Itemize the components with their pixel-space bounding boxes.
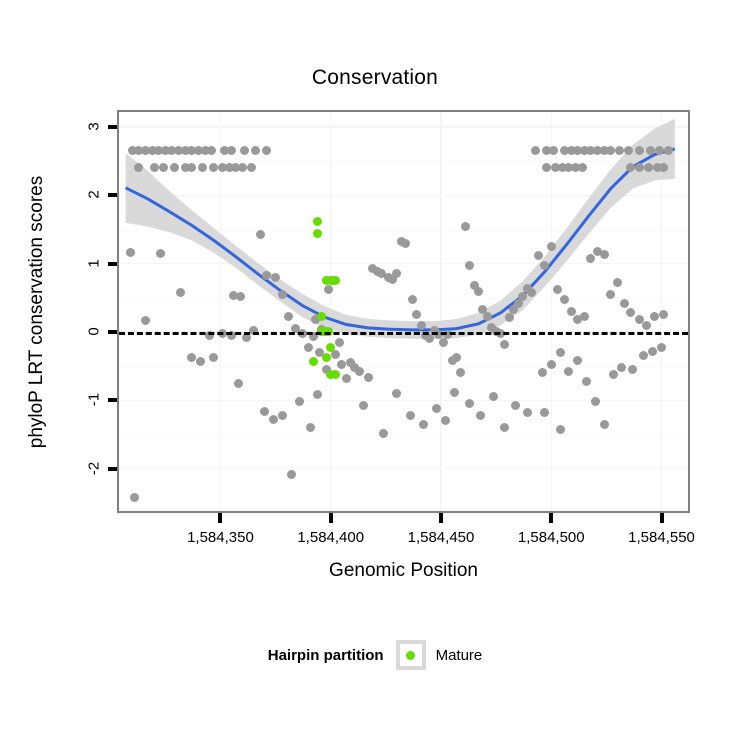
data-point-other bbox=[553, 285, 562, 294]
plot-panel bbox=[117, 110, 690, 513]
data-point-other bbox=[476, 411, 485, 420]
y-tick-label: 3 bbox=[86, 112, 103, 142]
gridline-y bbox=[119, 468, 688, 470]
data-point-other bbox=[648, 347, 657, 356]
data-point-mature bbox=[326, 343, 335, 352]
data-point-other bbox=[401, 239, 410, 248]
data-point-other bbox=[271, 273, 280, 282]
data-point-other bbox=[600, 420, 609, 429]
legend-title: Hairpin partition bbox=[268, 647, 384, 664]
data-point-other bbox=[439, 338, 448, 347]
data-point-other bbox=[187, 353, 196, 362]
data-point-other bbox=[198, 163, 207, 172]
data-point-other bbox=[624, 146, 633, 155]
data-point-other bbox=[518, 292, 527, 301]
data-point-other bbox=[359, 401, 368, 410]
data-point-other bbox=[540, 408, 549, 417]
data-point-other bbox=[664, 146, 673, 155]
data-point-other bbox=[187, 163, 196, 172]
data-point-other bbox=[284, 312, 293, 321]
legend-dot-icon bbox=[406, 651, 415, 660]
data-point-mature bbox=[313, 229, 322, 238]
data-point-other bbox=[406, 411, 415, 420]
data-point-other bbox=[408, 295, 417, 304]
data-point-other bbox=[547, 360, 556, 369]
y-tick-mark bbox=[108, 125, 117, 129]
data-point-other bbox=[342, 374, 351, 383]
data-point-other bbox=[547, 242, 556, 251]
data-point-other bbox=[141, 316, 150, 325]
data-point-other bbox=[564, 367, 573, 376]
data-point-other bbox=[236, 292, 245, 301]
data-point-other bbox=[238, 163, 247, 172]
y-tick-mark bbox=[108, 330, 117, 334]
data-point-other bbox=[337, 360, 346, 369]
x-axis-title: Genomic Position bbox=[117, 560, 690, 582]
data-point-other bbox=[452, 353, 461, 362]
data-point-other bbox=[269, 415, 278, 424]
data-point-other bbox=[644, 163, 653, 172]
data-point-mature bbox=[331, 370, 340, 379]
data-point-other bbox=[573, 356, 582, 365]
data-point-other bbox=[615, 146, 624, 155]
data-point-other bbox=[642, 321, 651, 330]
data-point-other bbox=[156, 249, 165, 258]
data-point-other bbox=[523, 408, 532, 417]
page-title: Conservation bbox=[0, 66, 750, 90]
conservation-chart: Conservation phyloP LRT conservation sco… bbox=[0, 0, 750, 750]
data-point-other bbox=[260, 407, 269, 416]
data-point-other bbox=[540, 261, 549, 270]
data-point-other bbox=[134, 163, 143, 172]
data-point-other bbox=[650, 312, 659, 321]
data-point-other bbox=[635, 146, 644, 155]
data-point-other bbox=[306, 423, 315, 432]
data-point-other bbox=[626, 308, 635, 317]
data-point-other bbox=[556, 348, 565, 357]
data-point-other bbox=[456, 368, 465, 377]
data-point-other bbox=[591, 397, 600, 406]
gridline-y bbox=[119, 126, 688, 128]
y-tick-mark bbox=[108, 398, 117, 402]
data-point-other bbox=[412, 310, 421, 319]
x-tick-mark bbox=[549, 513, 553, 523]
data-point-other bbox=[609, 370, 618, 379]
y-tick-label: 0 bbox=[86, 316, 103, 346]
data-point-other bbox=[626, 163, 635, 172]
x-tick-mark bbox=[218, 513, 222, 523]
data-point-other bbox=[578, 163, 587, 172]
data-point-other bbox=[304, 343, 313, 352]
data-point-other bbox=[392, 389, 401, 398]
y-tick-label: 1 bbox=[86, 248, 103, 278]
data-point-mature bbox=[309, 357, 318, 366]
data-point-other bbox=[313, 390, 322, 399]
data-point-other bbox=[527, 288, 536, 297]
gridline-x bbox=[551, 112, 553, 511]
data-point-other bbox=[262, 146, 271, 155]
data-point-mature bbox=[317, 312, 326, 321]
data-point-other bbox=[500, 423, 509, 432]
data-point-other bbox=[531, 146, 540, 155]
x-tick-label: 1,584,450 bbox=[391, 529, 491, 546]
data-point-other bbox=[505, 313, 514, 322]
data-point-other bbox=[639, 351, 648, 360]
data-point-other bbox=[465, 261, 474, 270]
data-point-other bbox=[628, 365, 637, 374]
data-point-other bbox=[511, 401, 520, 410]
x-tick-mark bbox=[329, 513, 333, 523]
data-point-other bbox=[580, 312, 589, 321]
data-point-other bbox=[207, 146, 216, 155]
plot-area bbox=[119, 112, 688, 511]
legend-label-mature: Mature bbox=[436, 647, 483, 664]
data-point-other bbox=[500, 340, 509, 349]
data-point-other bbox=[417, 321, 426, 330]
data-point-other bbox=[483, 312, 492, 321]
data-point-mature bbox=[331, 276, 340, 285]
data-point-other bbox=[234, 379, 243, 388]
gridline-y bbox=[119, 195, 688, 197]
data-point-other bbox=[635, 163, 644, 172]
x-tick-label: 1,584,400 bbox=[281, 529, 381, 546]
trend-overlay bbox=[119, 112, 688, 511]
data-point-other bbox=[617, 363, 626, 372]
y-axis-title: phyloP LRT conservation scores bbox=[26, 110, 48, 514]
gridline-y-minor bbox=[119, 230, 688, 231]
gridline-y bbox=[119, 263, 688, 265]
data-point-other bbox=[287, 470, 296, 479]
data-point-other bbox=[549, 146, 558, 155]
gridline-y-minor bbox=[119, 434, 688, 435]
data-point-other bbox=[176, 288, 185, 297]
gridline-x bbox=[330, 112, 332, 511]
data-point-other bbox=[461, 222, 470, 231]
data-point-other bbox=[560, 295, 569, 304]
data-point-other bbox=[419, 420, 428, 429]
data-point-mature bbox=[313, 217, 322, 226]
data-point-other bbox=[150, 163, 159, 172]
y-tick-label: -2 bbox=[86, 453, 103, 483]
data-point-other bbox=[209, 353, 218, 362]
data-point-other bbox=[247, 163, 256, 172]
data-point-other bbox=[538, 368, 547, 377]
data-point-other bbox=[227, 146, 236, 155]
data-point-other bbox=[659, 163, 668, 172]
data-point-other bbox=[534, 251, 543, 260]
legend-key-mature[interactable] bbox=[396, 640, 426, 670]
data-point-other bbox=[556, 425, 565, 434]
data-point-other bbox=[657, 343, 666, 352]
y-tick-label: 2 bbox=[86, 180, 103, 210]
x-tick-label: 1,584,500 bbox=[501, 529, 601, 546]
data-point-other bbox=[620, 299, 629, 308]
data-point-other bbox=[425, 334, 434, 343]
data-point-other bbox=[240, 146, 249, 155]
data-point-other bbox=[441, 416, 450, 425]
data-point-other bbox=[324, 285, 333, 294]
data-point-other bbox=[646, 146, 655, 155]
data-point-other bbox=[196, 357, 205, 366]
y-tick-mark bbox=[108, 262, 117, 266]
data-point-other bbox=[379, 429, 388, 438]
data-point-other bbox=[209, 163, 218, 172]
data-point-other bbox=[335, 338, 344, 347]
data-point-other bbox=[613, 278, 622, 287]
x-tick-mark bbox=[660, 513, 664, 523]
gridline-x bbox=[220, 112, 222, 511]
data-point-other bbox=[126, 248, 135, 257]
gridline-y-minor bbox=[119, 366, 688, 367]
gridline-y bbox=[119, 400, 688, 402]
x-tick-label: 1,584,550 bbox=[612, 529, 712, 546]
data-point-other bbox=[392, 269, 401, 278]
data-point-other bbox=[600, 250, 609, 259]
legend: Hairpin partition Mature bbox=[0, 640, 750, 670]
data-point-other bbox=[256, 230, 265, 239]
x-tick-mark bbox=[439, 513, 443, 523]
data-point-other bbox=[582, 377, 591, 386]
data-point-other bbox=[659, 310, 668, 319]
data-point-other bbox=[295, 397, 304, 406]
data-point-other bbox=[130, 493, 139, 502]
data-point-other bbox=[474, 287, 483, 296]
data-point-other bbox=[278, 290, 287, 299]
x-tick-label: 1,584,350 bbox=[170, 529, 270, 546]
data-point-other bbox=[450, 388, 459, 397]
data-point-other bbox=[262, 271, 271, 280]
y-tick-mark bbox=[108, 467, 117, 471]
data-point-other bbox=[655, 146, 664, 155]
data-point-other bbox=[355, 367, 364, 376]
data-point-other bbox=[159, 163, 168, 172]
gridline-y-minor bbox=[119, 298, 688, 299]
y-tick-label: -1 bbox=[86, 385, 103, 415]
data-point-other bbox=[364, 373, 373, 382]
zero-reference-line bbox=[119, 332, 688, 335]
data-point-other bbox=[465, 399, 474, 408]
y-tick-mark bbox=[108, 193, 117, 197]
gridline-x bbox=[440, 112, 442, 511]
gridline-y-minor bbox=[119, 161, 688, 162]
data-point-other bbox=[170, 163, 179, 172]
data-point-other bbox=[606, 146, 615, 155]
data-point-other bbox=[278, 411, 287, 420]
data-point-other bbox=[251, 146, 260, 155]
